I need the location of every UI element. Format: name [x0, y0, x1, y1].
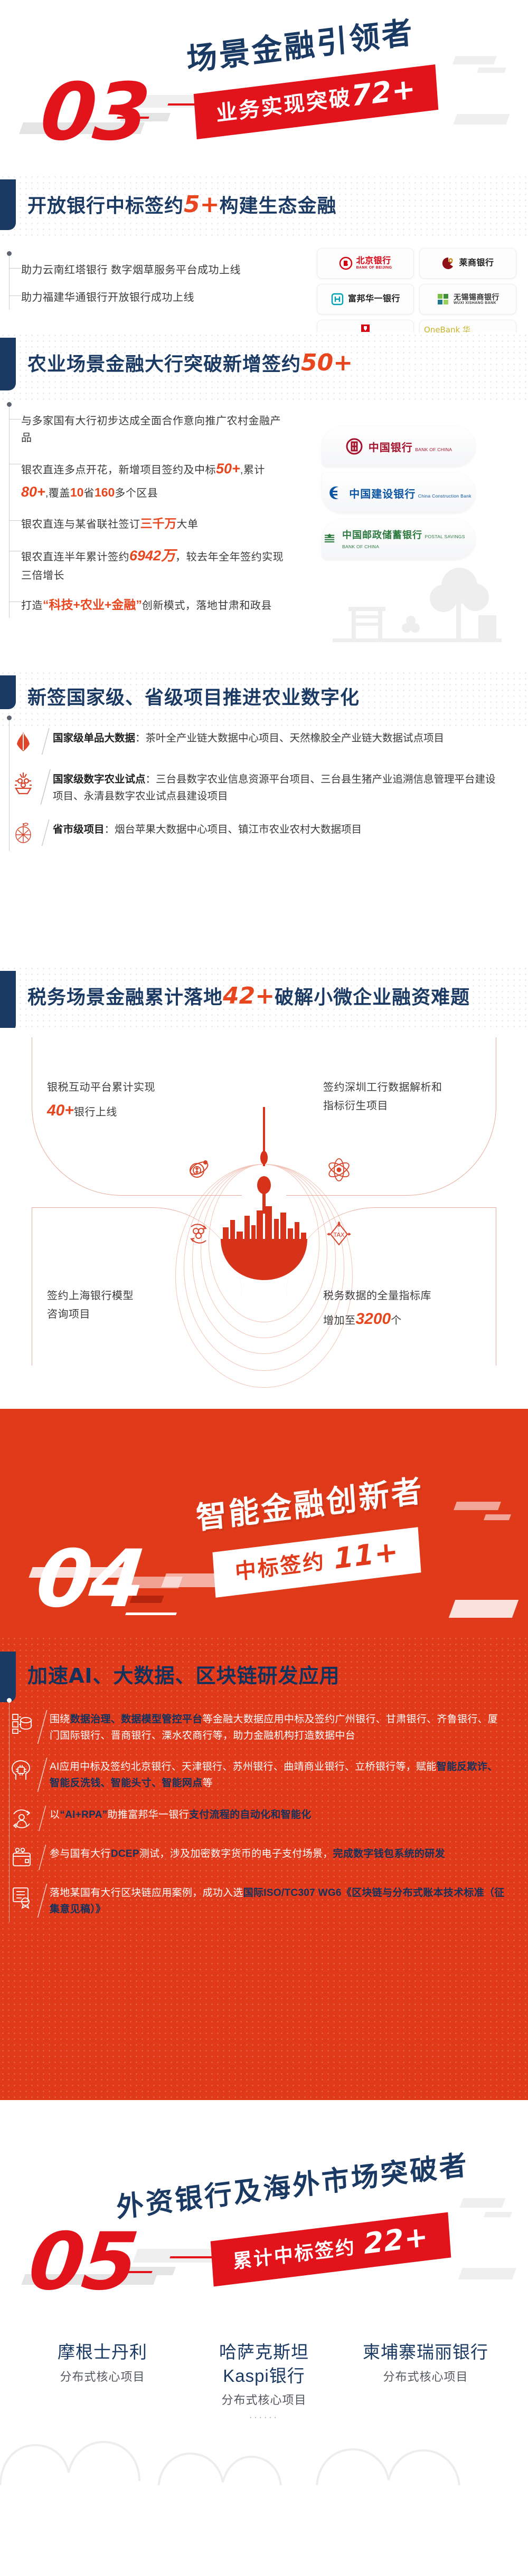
item-text: 国家级数字农业试点：三台县数字农业信息资源平台项目、三台县生猪产业追溯信息管理平…: [53, 769, 497, 805]
ccb-icon: [326, 484, 344, 502]
agriculture-bullets: 与多家国有大行初步达成全面合作意向推广农村金融产品 银农直连多点开花，新增项目签…: [0, 403, 296, 625]
timeline-stub: [10, 520, 21, 530]
deco-bar: [477, 68, 506, 73]
section-national-projects: 新签国家级、省级项目推进农业数字化 国家级单品大数据：茶叶全产业链大数据中心项目…: [0, 670, 528, 966]
heading-prefix: 税务场景金融累计落地: [27, 987, 223, 1008]
panel-line-1: 银税互动平台累计实现: [47, 1082, 155, 1093]
rpa-robot-icon: [10, 1807, 34, 1831]
bank-project: 分布式核心项目: [354, 2368, 497, 2384]
bank-project: 分布式核心项目: [193, 2391, 335, 2408]
heading-suffix: 构建生态金融: [220, 195, 337, 217]
infographic-page: 03 场景金融引领者 业务实现突破72+ 开放银行中标签约5+构建生态金融 助力…: [0, 0, 528, 2576]
bullet-text: 银农直连半年累计签约6942万，较去年全年签约实现三倍增长: [21, 545, 286, 585]
national-heading: 新签国家级、省级项目推进农业数字化: [27, 685, 528, 711]
panel-caption: 签约上海银行模型 咨询项目: [47, 1287, 205, 1324]
panel-line-2: 指标衍生项目: [323, 1100, 388, 1112]
deco-bar: [484, 2212, 512, 2217]
banner-03-subtitle: 业务实现突破72+: [194, 64, 439, 139]
psbc-icon: [322, 530, 337, 548]
panel-line-2: 个: [391, 1315, 402, 1327]
bank-name: 柬埔寨瑞丽银行: [354, 2341, 497, 2364]
section-ai-bigdata-blockchain: 加速AI、大数据、区块链研发应用 围绕数据治理、数据模型管控平台等金融大数据应用…: [0, 1636, 528, 2100]
divider-slash: [39, 819, 53, 846]
section-number-04: 04: [33, 1540, 147, 1619]
divider-slash: [36, 1884, 50, 1917]
timeline-stub: [10, 602, 21, 611]
list-item: 国家级单品大数据：茶叶全产业链大数据中心项目、天然橡胶全产业链大数据试点项目: [0, 721, 507, 762]
item-text: AI应用中标及签约北京银行、天津银行、苏州银行、曲靖商业银行、立桥银行等，赋能智…: [50, 1758, 507, 1791]
bank-name-cn: 中国银行: [369, 442, 413, 454]
item-label: 国家级单品大数据: [53, 732, 135, 744]
timeline-knob: [7, 402, 12, 407]
panel-line-1: 税务数据的全量指标库: [323, 1290, 431, 1302]
divider-slash: [36, 1806, 50, 1831]
section-overseas-banks: 摩根士丹利 分布式核心项目 哈萨克斯坦 Kaspi银行 分布式核心项目 ····…: [0, 2327, 528, 2485]
panel-caption: 税务数据的全量指标库 增加至3200个: [323, 1287, 482, 1333]
list-item: 围绕数据治理、数据模型管控平台等金融大数据应用中标及签约广州银行、甘肃银行、齐鲁…: [0, 1703, 517, 1751]
ai-heading-wrap: 加速AI、大数据、区块链研发应用: [0, 1636, 528, 1678]
item-highlight: 数据治理、数据模型管控平台: [70, 1714, 203, 1725]
ai-heading: 加速AI、大数据、区块链研发应用: [27, 1662, 528, 1690]
model-cycle-icon: [185, 1220, 212, 1248]
item-text: 省市级项目：烟台苹果大数据中心项目、镇江市农业农村大数据项目: [53, 819, 497, 838]
heading-number: 42+: [223, 982, 275, 1009]
open-bank-bullets: 助力云南红塔银行 数字烟草服务平台成功上线 助力福建华通银行开放银行成功上线: [0, 252, 317, 317]
bullet-text: 银农直连与某省联社签订三千万大单: [21, 514, 286, 533]
city-skyline-icon: [210, 1107, 318, 1308]
agriculture-bank-list: 中国银行 BANK OF CHINA 中国建设银行 China Construc…: [322, 426, 475, 566]
logo-card-bank-of-beijing: 北京银行 BANK OF BEIJING: [317, 248, 414, 279]
logo-card-laishang-bank: 莱商银行: [419, 248, 516, 279]
bank-of-beijing-icon: [339, 256, 353, 270]
section-tax: 税务场景金融累计落地42+破解小微企业融资难题 银税互动平台累计实现 40+银行…: [0, 966, 528, 1409]
list-item: 助力福建华通银行开放银行成功上线: [0, 284, 317, 311]
logo-name-cn: 富邦华一银行: [348, 295, 400, 304]
bullet-text: 助力云南红塔银行 数字烟草服务平台成功上线: [21, 262, 307, 279]
banner-03-title: 场景金融引领者: [186, 17, 416, 75]
list-item: 省市级项目：烟台苹果大数据中心项目、镇江市农业农村大数据项目: [0, 812, 507, 853]
bank-name-en: China Construction Bank: [418, 493, 472, 499]
timeline-knob: [7, 1698, 12, 1703]
logo-name-en: WUXI XISHANG BANK: [454, 301, 496, 305]
cloud-decoration: [0, 2409, 528, 2485]
timeline-stub: [10, 551, 21, 560]
list-item: 与多家国有大行初步达成全面合作意向推广农村金融产品: [0, 407, 296, 452]
agriculture-heading: 农业场景金融大行突破新增签约50+: [27, 347, 528, 379]
banner-04-title: 智能金融创新者: [195, 1475, 425, 1534]
item-highlight: 完成数字钱包系统的研发: [333, 1848, 445, 1859]
item-highlight: DCEP: [111, 1848, 139, 1859]
bank-wordmark: 中国银行 BANK OF CHINA: [369, 439, 452, 454]
bank-name-en: BANK OF CHINA: [415, 447, 452, 452]
bank-pill-ccb: 中国建设银行 China Construction Bank: [322, 473, 475, 513]
list-item: 落地某国有大行区块链应用案例，成功入选国际ISO/TC307 WG6《区块链与分…: [0, 1877, 517, 1924]
banner-03-subtitle-number: 72+: [350, 72, 417, 113]
bullet-text: 助力福建华通银行开放银行成功上线: [21, 289, 307, 306]
timeline-stub: [10, 419, 21, 428]
list-item: 参与国有大行DCEP测试，涉及加密数字货币的电子支付场景，完成数字钱包系统的研发: [0, 1838, 517, 1877]
section-agriculture: 农业场景金融大行突破新增签约50+ 与多家国有大行初步达成全面合作意向推广农村金…: [0, 332, 528, 670]
panel-number: 3200: [356, 1310, 391, 1328]
item-label: 国家级数字农业试点: [53, 774, 146, 785]
item-text: 国家级单品大数据：茶叶全产业链大数据中心项目、天然橡胶全产业链大数据试点项目: [53, 728, 497, 747]
logo-wordmark: 富邦华一银行: [348, 295, 400, 304]
banner-05-subtitle: 累计中标签约 22+: [211, 2212, 451, 2286]
certificate-icon: [10, 1885, 34, 1909]
bank-name: 哈萨克斯坦 Kaspi银行: [193, 2341, 335, 2388]
bullet-text: 打造“科技+农业+金融”创新模式，落地甘肃和政县: [21, 595, 286, 615]
deco-bar: [460, 2198, 506, 2208]
logo-wordmark: 莱商银行: [459, 259, 494, 268]
national-heading-wrap: 新签国家级、省级项目推进农业数字化: [0, 670, 528, 704]
banner-05-title: 外资银行及海外市场突破者: [116, 2151, 470, 2222]
open-bank-heading: 开放银行中标签约5+构建生态金融: [27, 189, 528, 221]
section-number-05: 05: [25, 2222, 140, 2302]
tax-cycle-icon: TAX: [325, 1220, 353, 1248]
national-project-list: 国家级单品大数据：茶叶全产业链大数据中心项目、天然橡胶全产业链大数据试点项目 国…: [0, 717, 507, 858]
tax-heading-wrap: 税务场景金融累计落地42+破解小微企业融资难题: [0, 966, 528, 1028]
divider-slash: [39, 769, 53, 805]
open-bank-heading-wrap: 开放银行中标签约5+构建生态金融: [0, 174, 528, 225]
item-highlight: 支付流程的自动化和智能化: [189, 1809, 312, 1820]
heading-prefix: 农业场景金融大行突破新增签约: [27, 354, 301, 375]
bullet-text: 银农直连多点开花，新增项目签约及中标50+,累计80+,覆盖10省160多个区县: [21, 457, 286, 503]
banner-04-subtitle: 中标签约 11+: [212, 1527, 421, 1598]
logo-name-cn: 北京银行: [356, 257, 391, 266]
divider-slash: [36, 1710, 50, 1744]
panel-number: 40+: [47, 1102, 74, 1119]
item-text: 落地某国有大行区块链应用案例，成功入选国际ISO/TC307 WG6《区块链与分…: [50, 1884, 507, 1917]
wuxi-xishang-bank-icon: [436, 292, 450, 306]
digital-wallet-icon: [10, 1846, 34, 1870]
laishang-bank-icon: [441, 256, 455, 270]
list-item: 银农直连半年累计签约6942万，较去年全年签约实现三倍增长: [0, 539, 296, 590]
coin-orbit-icon: [185, 1156, 212, 1184]
fubon-huayi-bank-icon: [331, 292, 344, 306]
panel-line-1: 签约上海银行模型: [47, 1290, 134, 1302]
banner-05-subtitle-number: 22+: [363, 2219, 430, 2260]
section-open-bank: 开放银行中标签约5+构建生态金融 助力云南红塔银行 数字烟草服务平台成功上线 助…: [0, 174, 528, 332]
panel-caption: 签约深圳工行数据解析和 指标衍生项目: [323, 1079, 482, 1115]
banner-05-subtitle-text: 累计中标签约: [232, 2236, 356, 2273]
banner-04-subtitle-text: 中标签约: [234, 1549, 326, 1585]
logo-card-wuxi-xishang-bank: 无锡锡商银行 WUXI XISHANG BANK: [419, 284, 516, 314]
logo-wordmark: 北京银行 BANK OF BEIJING: [356, 257, 392, 270]
agriculture-heading-wrap: 农业场景金融大行突破新增签约50+: [0, 332, 528, 385]
bank-wordmark: 中国邮政储蓄银行 POSTAL SAVINGS BANK OF CHINA: [342, 528, 475, 551]
item-highlight: “AI+RPA”: [60, 1809, 107, 1820]
list-item: 打造“科技+农业+金融”创新模式，落地甘肃和政县: [0, 590, 296, 620]
timeline-stub: [10, 295, 21, 305]
bank-name-cn: 中国建设银行: [349, 489, 416, 500]
timeline-knob: [7, 715, 12, 720]
ai-bullet-list: 围绕数据治理、数据模型管控平台等金融大数据应用中标及签约广州银行、甘肃银行、齐鲁…: [0, 1699, 517, 1930]
deco-bar: [452, 56, 497, 64]
bank-name-line1: 哈萨克斯坦: [219, 2342, 309, 2362]
deco-bar: [454, 1502, 501, 1510]
bank-name-line2: Kaspi银行: [223, 2366, 305, 2386]
deco-bar: [453, 114, 510, 125]
item-label: 省市级项目: [53, 824, 105, 835]
banner-section-03: 03 场景金融引领者 业务实现突破72+: [0, 0, 528, 174]
data-governance-icon: [10, 1711, 34, 1735]
panel-line-2: 咨询项目: [47, 1309, 90, 1320]
item-text: 围绕数据治理、数据模型管控平台等金融大数据应用中标及签约广州银行、甘肃银行、齐鲁…: [50, 1710, 507, 1744]
bank-pill-psbc: 中国邮政储蓄银行 POSTAL SAVINGS BANK OF CHINA: [322, 519, 475, 559]
logo-card-fubon-huayi-bank: 富邦华一银行: [317, 284, 414, 314]
banner-section-05: 05 外资银行及海外市场突破者 累计中标签约 22+: [0, 2100, 528, 2327]
timeline-stub: [10, 268, 21, 278]
deco-bar: [484, 1514, 511, 1520]
section-number-03: 03: [37, 73, 152, 152]
list-item: AI应用中标及签约北京银行、天津银行、苏州银行、曲靖商业银行、立桥银行等，赋能智…: [0, 1751, 517, 1798]
heading-prefix: 开放银行中标签约: [27, 195, 184, 217]
logo-name-cn: 莱商银行: [459, 259, 494, 268]
bank-name: 摩根士丹利: [31, 2341, 174, 2364]
banner-03-subtitle-text: 业务实现突破: [215, 85, 352, 126]
bank-project: 分布式核心项目: [31, 2368, 174, 2384]
tea-leaf-icon: [11, 729, 36, 755]
list-item: 银农直连与某省联社签订三千万大单: [0, 509, 296, 539]
atom-icon: [325, 1156, 353, 1184]
divider-slash: [36, 1845, 50, 1870]
rice-grain-icon: [11, 770, 36, 796]
banner-04-subtitle-number: 11+: [333, 1534, 400, 1576]
logo-name-cn: 无锡锡商银行: [454, 293, 499, 301]
bank-pill-bank-of-china: 中国银行 BANK OF CHINA: [322, 426, 475, 466]
apple-icon: [11, 820, 36, 846]
overseas-bank-row: 摩根士丹利 分布式核心项目 哈萨克斯坦 Kaspi银行 分布式核心项目 ····…: [0, 2327, 528, 2422]
panel-line-2-prefix: 增加至: [323, 1315, 356, 1327]
timeline-stub: [10, 464, 21, 473]
logo-name-en: BANK OF BEIJING: [356, 266, 392, 270]
list-item: 助力云南红塔银行 数字烟草服务平台成功上线: [0, 256, 317, 284]
list-item: 银农直连多点开花，新增项目签约及中标50+,累计80+,覆盖10省160多个区县: [0, 452, 296, 509]
svg-text:TAX: TAX: [333, 1232, 345, 1238]
panel-line-1: 签约深圳工行数据解析和: [323, 1082, 442, 1093]
orchard-illustration: [327, 565, 507, 660]
panel-caption: 银税互动平台累计实现 40+银行上线: [47, 1079, 205, 1125]
item-text: 参与国有大行DCEP测试，涉及加密数字货币的电子支付场景，完成数字钱包系统的研发: [50, 1845, 507, 1862]
tax-petal-layout: 银税互动平台累计实现 40+银行上线 签约深圳工行数据解析和 指标衍生项目: [0, 1028, 528, 1376]
divider-slash: [39, 728, 53, 755]
bank-wordmark: 中国建设银行 China Construction Bank: [349, 485, 471, 501]
bank-name-cn: 中国邮政储蓄银行: [342, 530, 422, 540]
deco-bar: [449, 1600, 518, 1618]
tax-heading: 税务场景金融累计落地42+破解小微企业融资难题: [27, 980, 528, 1013]
heading-number: 50+: [301, 349, 353, 376]
item-detail: 烟台苹果大数据中心项目、镇江市农业农村大数据项目: [115, 824, 362, 835]
list-item: 以“AI+RPA”助推富邦华一银行支付流程的自动化和智能化: [0, 1799, 517, 1838]
banner-section-04: 04 智能金融创新者 中标签约 11+: [0, 1409, 528, 1636]
heading-number: 5+: [184, 191, 219, 218]
item-text: 以“AI+RPA”助推富邦华一银行支付流程的自动化和智能化: [50, 1806, 507, 1823]
panel-line-2: 银行上线: [74, 1106, 117, 1118]
bank-of-china-icon: [345, 437, 363, 455]
logo-wordmark: 无锡锡商银行 WUXI XISHANG BANK: [454, 293, 499, 305]
bullet-text: 与多家国有大行初步达成全面合作意向推广农村金融产品: [21, 413, 286, 447]
ai-brain-chip-icon: [10, 1759, 34, 1783]
timeline-knob: [7, 251, 12, 256]
divider-slash: [36, 1758, 50, 1791]
list-item: 国家级数字农业试点：三台县数字农业信息资源平台项目、三台县生猪产业追溯信息管理平…: [0, 762, 507, 812]
item-detail: 茶叶全产业链大数据中心项目、天然橡胶全产业链大数据试点项目: [146, 732, 445, 744]
deco-bar: [458, 2268, 516, 2279]
heading-suffix: 破解小微企业融资难题: [275, 987, 470, 1008]
